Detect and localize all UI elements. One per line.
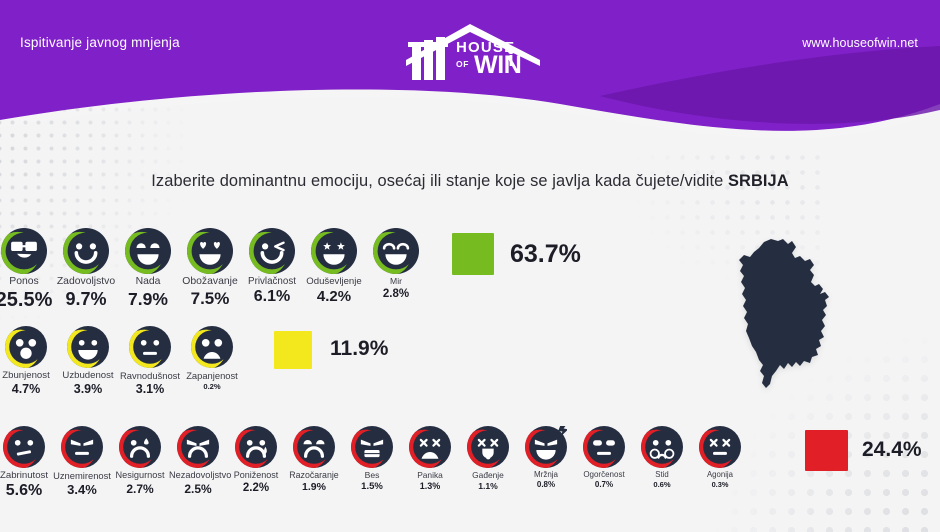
header-banner: Ispitivanje javnog mnjenja www.houseofwi… [0, 0, 940, 140]
emotion-value: 7.5% [179, 290, 241, 308]
emotion-label: Privlačnost [241, 277, 303, 287]
group-total-positive: 63.7% [510, 240, 581, 269]
emotion-value: 7.9% [117, 290, 179, 308]
angry-face [351, 426, 393, 468]
emotion-label: Oduševljenje [303, 277, 365, 287]
emotion-value: 2.8% [365, 288, 427, 300]
header-subtitle: Ispitivanje javnog mnjenja [20, 35, 180, 50]
emotion-value: 25.5% [0, 290, 55, 311]
emotion-value: 0.7% [575, 481, 633, 489]
emotion-label: Gađenje [459, 471, 517, 480]
emotion-label: Ogorčenost [575, 471, 633, 479]
emotion-label: Zabrinutost [0, 471, 53, 481]
emotion-value: 2.7% [111, 483, 169, 496]
emotion-item: Obožavanje7.5% [179, 228, 241, 308]
emotion-item: Agonija0.3% [691, 426, 749, 489]
emotion-value: 0.3% [691, 481, 749, 489]
emotion-value: 9.7% [55, 290, 117, 309]
emotion-item: Nada7.9% [117, 228, 179, 308]
anxious-sweat-face [119, 426, 161, 468]
group-total-neutral: 11.9% [330, 337, 388, 361]
house-of-win-logo[interactable]: HOUSE OF WIN [398, 18, 548, 80]
emotion-item: Bes1.5% [343, 426, 401, 492]
emotion-value: 6.1% [241, 289, 303, 306]
emotion-value: 1.3% [401, 482, 459, 491]
emotion-value: 5.6% [0, 483, 53, 500]
emotion-item: Nezadovoljstvo2.5% [169, 426, 227, 495]
emotion-item: Poniženost2.2% [227, 426, 285, 495]
emotion-label: Zapanjenost [181, 371, 243, 381]
emotion-item: Stid0.6% [633, 426, 691, 489]
displeased-face [177, 426, 219, 468]
emotion-label: Uznemirenost [53, 471, 111, 481]
emotion-item: Oduševljenje4.2% [303, 228, 365, 305]
emotion-item: Ogorčenost0.7% [575, 426, 633, 490]
emotion-value: 4.2% [303, 289, 365, 305]
emotion-label: Agonija [691, 471, 749, 479]
emotion-item: Mržnja0.8% [517, 426, 575, 490]
legend-swatch-positive [452, 233, 494, 275]
emotion-label: Zbunjenost [0, 371, 57, 381]
emotion-label: Ravnodušnost [119, 371, 181, 381]
emotion-value: 0.8% [517, 481, 575, 489]
peaceful-smile-face [373, 228, 419, 274]
winking-face [249, 228, 295, 274]
emotion-item: Nesigurnost2.7% [111, 426, 169, 495]
emotion-value: 3.4% [53, 483, 111, 497]
emotion-value: 2.5% [169, 483, 227, 496]
smiling-face [63, 228, 109, 274]
emotion-item: Privlačnost6.1% [241, 228, 303, 306]
emotion-item: Uznemirenost3.4% [53, 426, 111, 497]
hate-lightning-face [525, 426, 567, 468]
emotion-value: 0.6% [633, 481, 691, 489]
emotion-item: Zabrinutost5.6% [0, 426, 53, 500]
emotion-value: 1.5% [343, 482, 401, 492]
page-title-subject: SRBIJA [728, 172, 789, 190]
svg-text:WIN: WIN [474, 51, 521, 79]
group-total-negative: 24.4% [862, 438, 922, 462]
shame-face [641, 426, 683, 468]
emotion-item: Panika1.3% [401, 426, 459, 491]
emotion-label: Uzbudenost [57, 371, 119, 381]
crying-face [235, 426, 277, 468]
emotion-label: Nezadovoljstvo [169, 471, 227, 481]
emotion-label: Razočaranje [285, 471, 343, 480]
grinning-closed-eyes-face [125, 228, 171, 274]
emotion-group-negative: Zabrinutost5.6%Uznemirenost3.4%Nesigurno… [0, 426, 800, 502]
emotion-label: Panika [401, 471, 459, 480]
emotion-label: Ponos [0, 277, 55, 288]
emotion-item: Mir2.8% [365, 228, 427, 300]
heart-eyes-face [187, 228, 233, 274]
emotion-value: 3.9% [57, 383, 119, 396]
emotion-item: Zadovoljstvo9.7% [55, 228, 117, 309]
emotion-label: Bes [343, 471, 401, 480]
header-website-link[interactable]: www.houseofwin.net [802, 36, 918, 50]
emotion-label: Mir [365, 277, 427, 286]
emotion-label: Nada [117, 277, 179, 288]
emotion-value: 2.2% [227, 482, 285, 494]
emotion-label: Poniženost [227, 471, 285, 480]
infographic-page: Ispitivanje javnog mnjenja www.houseofwi… [0, 0, 940, 532]
excited-grin-face [67, 326, 109, 368]
emotion-value: 0.2% [181, 383, 243, 391]
indignant-face [583, 426, 625, 468]
surprised-face [5, 326, 47, 368]
emotion-value: 4.7% [0, 383, 57, 396]
emotion-label: Stid [633, 471, 691, 479]
astonished-face [191, 326, 233, 368]
emotion-item: Ravnodušnost3.1% [119, 326, 181, 396]
neutral-face [129, 326, 171, 368]
legend-swatch-negative [805, 430, 848, 471]
emotion-label: Mržnja [517, 471, 575, 479]
agony-dead-face [699, 426, 741, 468]
svg-text:OF: OF [456, 59, 469, 69]
serbia-map [726, 228, 866, 408]
star-eyes-face [311, 228, 357, 274]
serbia-map-path [739, 239, 829, 388]
emotion-value: 3.1% [119, 383, 181, 396]
emotion-label: Zadovoljstvo [55, 277, 117, 288]
disgust-tongue-face [467, 426, 509, 468]
distressed-face [61, 426, 103, 468]
emotion-value: 1.9% [285, 482, 343, 493]
emotion-item: Uzbudenost3.9% [57, 326, 119, 396]
page-title: Izaberite dominantnu emociju, osećaj ili… [0, 172, 940, 191]
emotion-item: Zapanjenost0.2% [181, 326, 243, 391]
sunglasses-smirk-face [1, 228, 47, 274]
emotion-item: Razočaranje1.9% [285, 426, 343, 493]
emotion-value: 1.1% [459, 482, 517, 491]
page-title-prefix: Izaberite dominantnu emociju, osećaj ili… [151, 172, 728, 190]
legend-swatch-neutral [274, 331, 312, 369]
worried-face [3, 426, 45, 468]
emotion-item: Zbunjenost4.7% [0, 326, 57, 396]
panic-face [409, 426, 451, 468]
emotion-item: Ponos25.5% [0, 228, 55, 311]
disappointed-face [293, 426, 335, 468]
emotion-label: Nesigurnost [111, 471, 169, 481]
emotion-label: Obožavanje [179, 277, 241, 288]
emotion-item: Gađenje1.1% [459, 426, 517, 491]
